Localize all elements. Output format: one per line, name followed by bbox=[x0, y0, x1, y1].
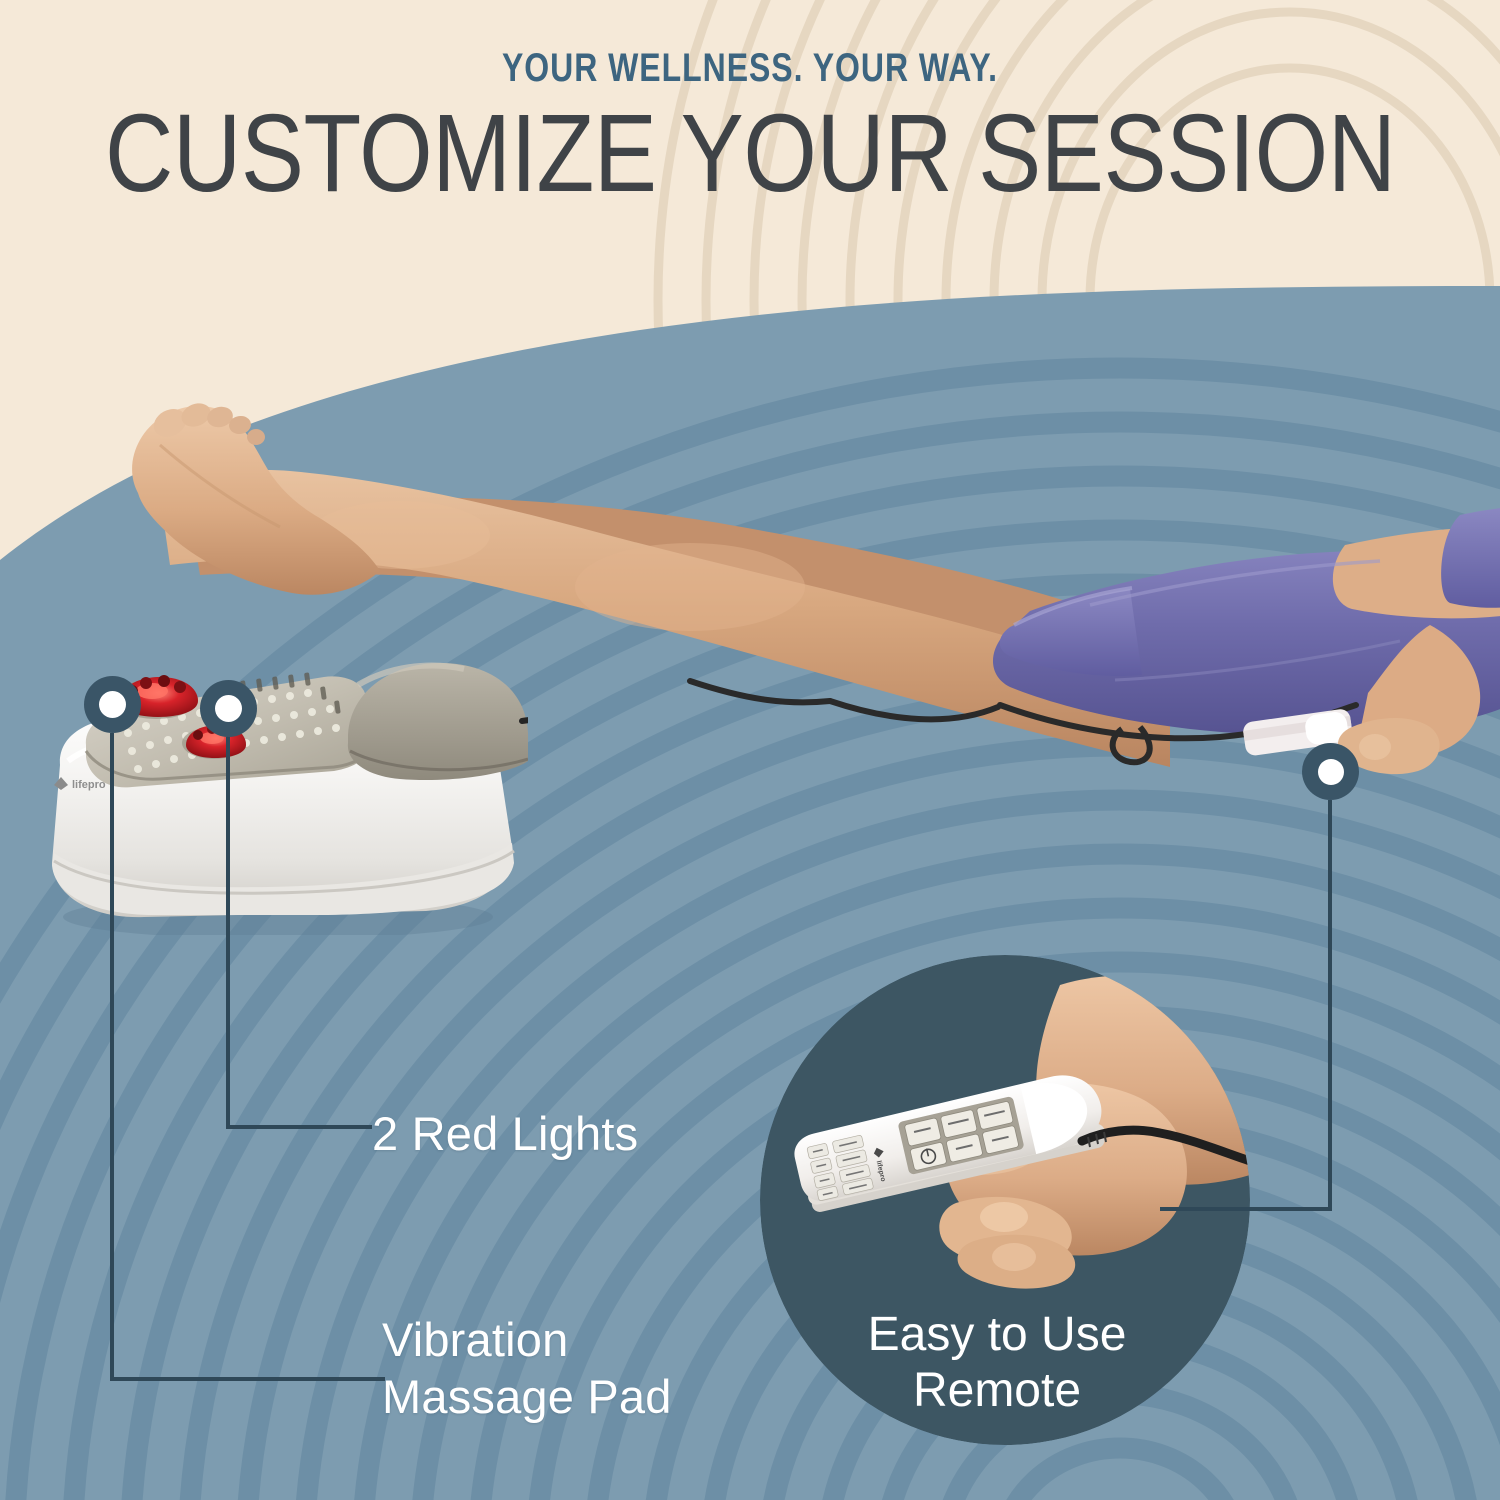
vibration-pad-marker[interactable] bbox=[84, 676, 141, 733]
page-title: CUSTOMIZE YOUR SESSION bbox=[105, 99, 1396, 209]
inset-callout-label: Easy to Use Remote bbox=[787, 1307, 1207, 1419]
header-block: YOUR WELLNESS. YOUR WAY. CUSTOMIZE YOUR … bbox=[0, 0, 1500, 250]
callout-label-red-lights: 2 Red Lights bbox=[372, 1105, 638, 1162]
callout-label-vibration-massage-pad: Vibration Massage Pad bbox=[382, 1311, 672, 1426]
lifepro-logo: lifepro bbox=[54, 777, 106, 791]
remote-marker[interactable] bbox=[1302, 743, 1359, 800]
red-lights-marker[interactable] bbox=[200, 680, 257, 737]
marker-center-dot bbox=[99, 691, 126, 718]
marker-center-dot bbox=[1318, 759, 1344, 785]
marker-center-dot bbox=[215, 695, 242, 722]
vibration-massage-device-photo: lifepro bbox=[28, 625, 528, 935]
eyebrow-text: YOUR WELLNESS. YOUR WAY. bbox=[502, 46, 998, 91]
promo-graphic: YOUR WELLNESS. YOUR WAY. CUSTOMIZE YOUR … bbox=[0, 0, 1500, 1500]
svg-text:lifepro: lifepro bbox=[72, 779, 106, 791]
